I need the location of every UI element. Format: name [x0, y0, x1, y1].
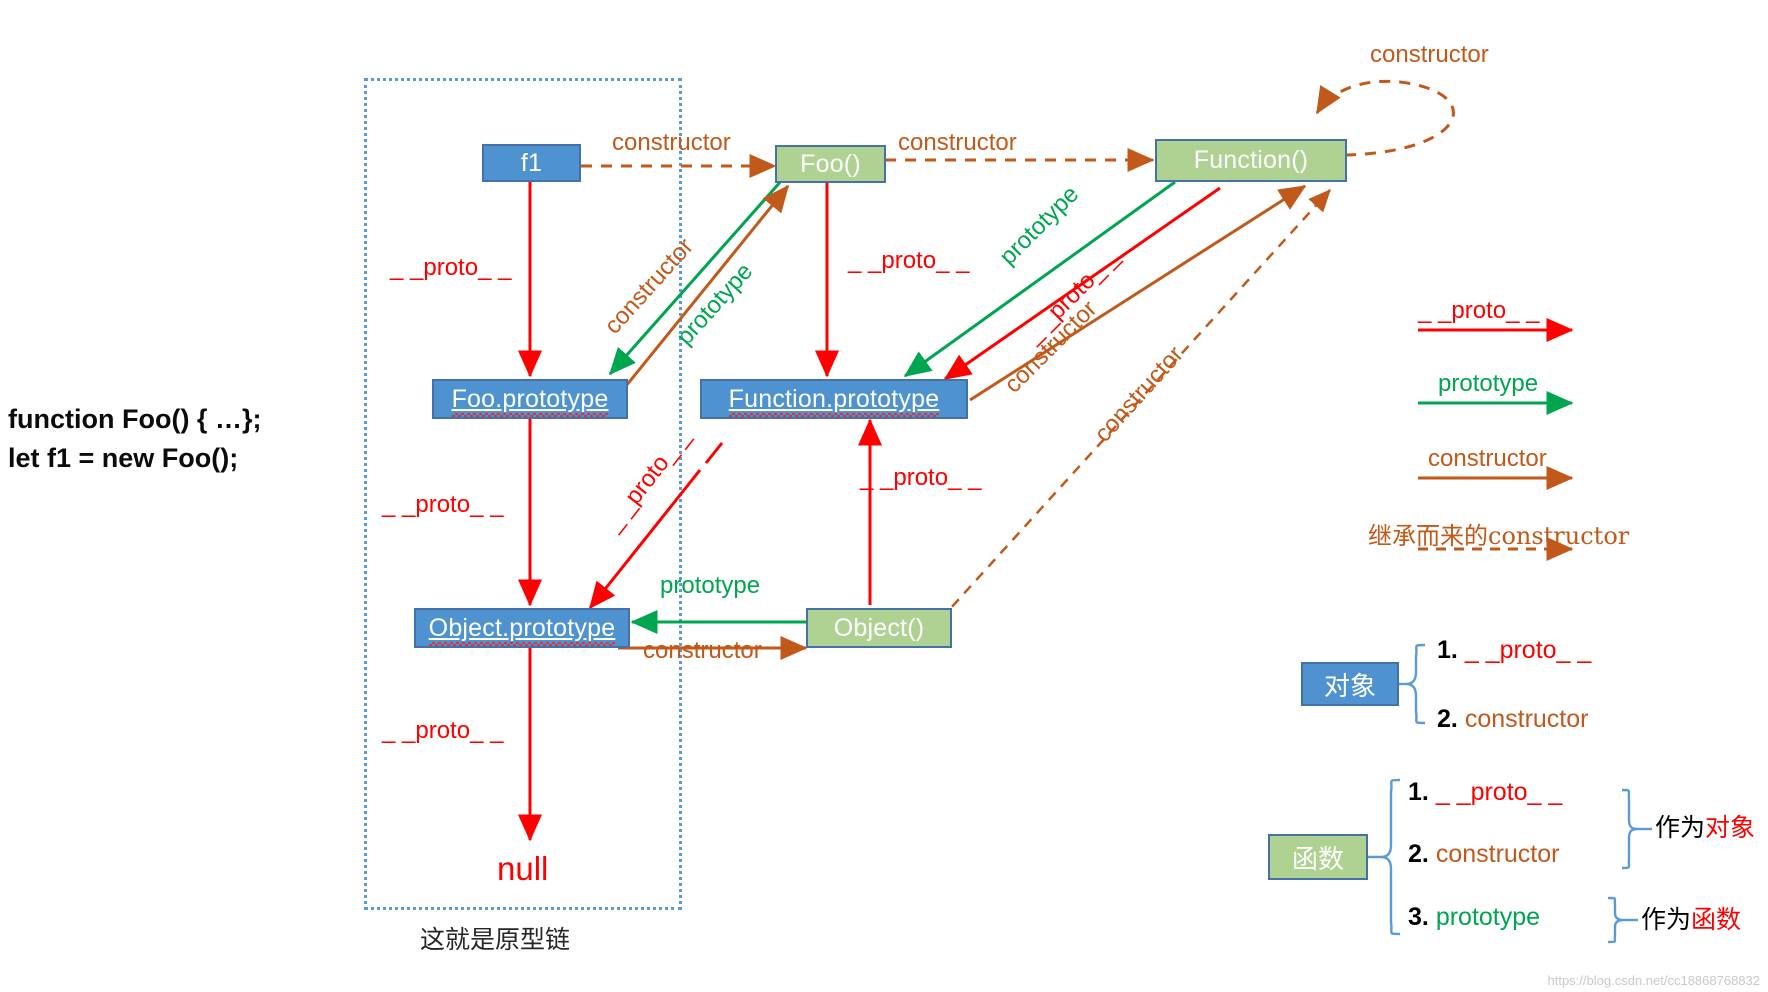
code-line-1: function Foo() { …};: [8, 400, 261, 439]
edge-label-f1-proto: _ _proto_ _: [390, 255, 511, 280]
summary-object-item-2: 2. constructor: [1437, 705, 1588, 734]
diagram-canvas: f1 Foo() Function() Foo.prototype Functi…: [0, 0, 1768, 992]
summary-function-item-1-num: 1.: [1408, 778, 1429, 806]
node-f1-label: f1: [521, 151, 542, 176]
node-foo-prototype-label: Foo.prototype: [452, 387, 609, 412]
edge-label-foo-prototype: prototype: [672, 259, 758, 350]
summary-group-as-object-prefix: 作为: [1655, 813, 1705, 842]
node-function-label: Function(): [1194, 148, 1309, 173]
summary-function-box[interactable]: 函数: [1268, 834, 1368, 880]
summary-object-item-2-text: constructor: [1465, 705, 1589, 733]
summary-object-item-1-num: 1.: [1437, 636, 1458, 664]
node-null: null: [497, 850, 548, 888]
node-object-prototype-label: Object.prototype: [429, 616, 616, 641]
edge-label-foo-proto: _ _proto_ _: [848, 248, 969, 273]
node-foo[interactable]: Foo(): [775, 145, 886, 183]
summary-function-item-2-num: 2.: [1408, 840, 1429, 868]
edge-label-objproto-constructor: constructor: [643, 638, 762, 663]
node-object-label: Object(): [834, 616, 925, 641]
node-foo-prototype[interactable]: Foo.prototype: [432, 379, 628, 419]
legend-label-prototype: prototype: [1438, 370, 1538, 398]
summary-object-item-1-text: _ _proto_ _: [1465, 636, 1592, 664]
legend-label-constructor: constructor: [1428, 445, 1547, 473]
summary-group-as-function: 作为函数: [1641, 900, 1741, 936]
summary-group-as-function-word: 函数: [1691, 905, 1741, 934]
code-line-2: let f1 = new Foo();: [8, 439, 261, 478]
summary-object-item-1: 1. _ _proto_ _: [1437, 636, 1591, 665]
summary-function-item-1: 1. _ _proto_ _: [1408, 778, 1562, 807]
node-function[interactable]: Function(): [1155, 139, 1347, 182]
summary-function-item-2-text: constructor: [1436, 840, 1560, 868]
summary-function-item-1-text: _ _proto_ _: [1436, 778, 1563, 806]
edge-label-object-to-function-constructor: constructor: [1090, 342, 1188, 447]
summary-function-item-2: 2. constructor: [1408, 840, 1559, 869]
summary-object-item-2-num: 2.: [1437, 705, 1458, 733]
code-snippet: function Foo() { …}; let f1 = new Foo();: [8, 400, 261, 478]
node-object[interactable]: Object(): [806, 608, 952, 648]
edge-label-object-prototype: prototype: [660, 573, 760, 598]
summary-group-as-object: 作为对象: [1655, 808, 1755, 844]
edge-label-function-self-constructor: constructor: [1370, 42, 1489, 67]
watermark: https://blog.csdn.net/cc18868768832: [1548, 973, 1761, 988]
node-function-prototype-label: Function.prototype: [729, 387, 940, 412]
summary-function-box-label: 函数: [1292, 839, 1344, 876]
edge-label-objectfn-proto: _ _proto_ _: [860, 465, 981, 490]
legend-label-inherited-constructor: 继承而来的constructor: [1368, 516, 1629, 551]
node-object-prototype[interactable]: Object.prototype: [414, 608, 630, 648]
edge-label-fooproto-proto: _ _proto_ _: [382, 492, 503, 517]
edge-label-function-prototype: prototype: [995, 181, 1084, 270]
summary-object-box-label: 对象: [1324, 666, 1376, 703]
edge-label-objproto-null: _ _proto_ _: [382, 718, 503, 743]
node-function-prototype[interactable]: Function.prototype: [700, 379, 968, 419]
edge-label-foo-constructor: constructor: [898, 130, 1017, 155]
summary-group-as-function-prefix: 作为: [1641, 905, 1691, 934]
chain-caption: 这就是原型链: [420, 920, 570, 956]
node-f1[interactable]: f1: [482, 144, 581, 182]
legend-label-proto: _ _proto_ _: [1418, 297, 1539, 325]
edge-label-f1-constructor: constructor: [612, 130, 731, 155]
summary-object-box[interactable]: 对象: [1301, 662, 1399, 706]
summary-function-item-3-num: 3.: [1408, 903, 1429, 931]
summary-function-item-3: 3. prototype: [1408, 903, 1540, 932]
summary-function-item-3-text: prototype: [1436, 903, 1540, 931]
summary-group-as-object-word: 对象: [1705, 813, 1755, 842]
node-foo-label: Foo(): [800, 152, 861, 177]
